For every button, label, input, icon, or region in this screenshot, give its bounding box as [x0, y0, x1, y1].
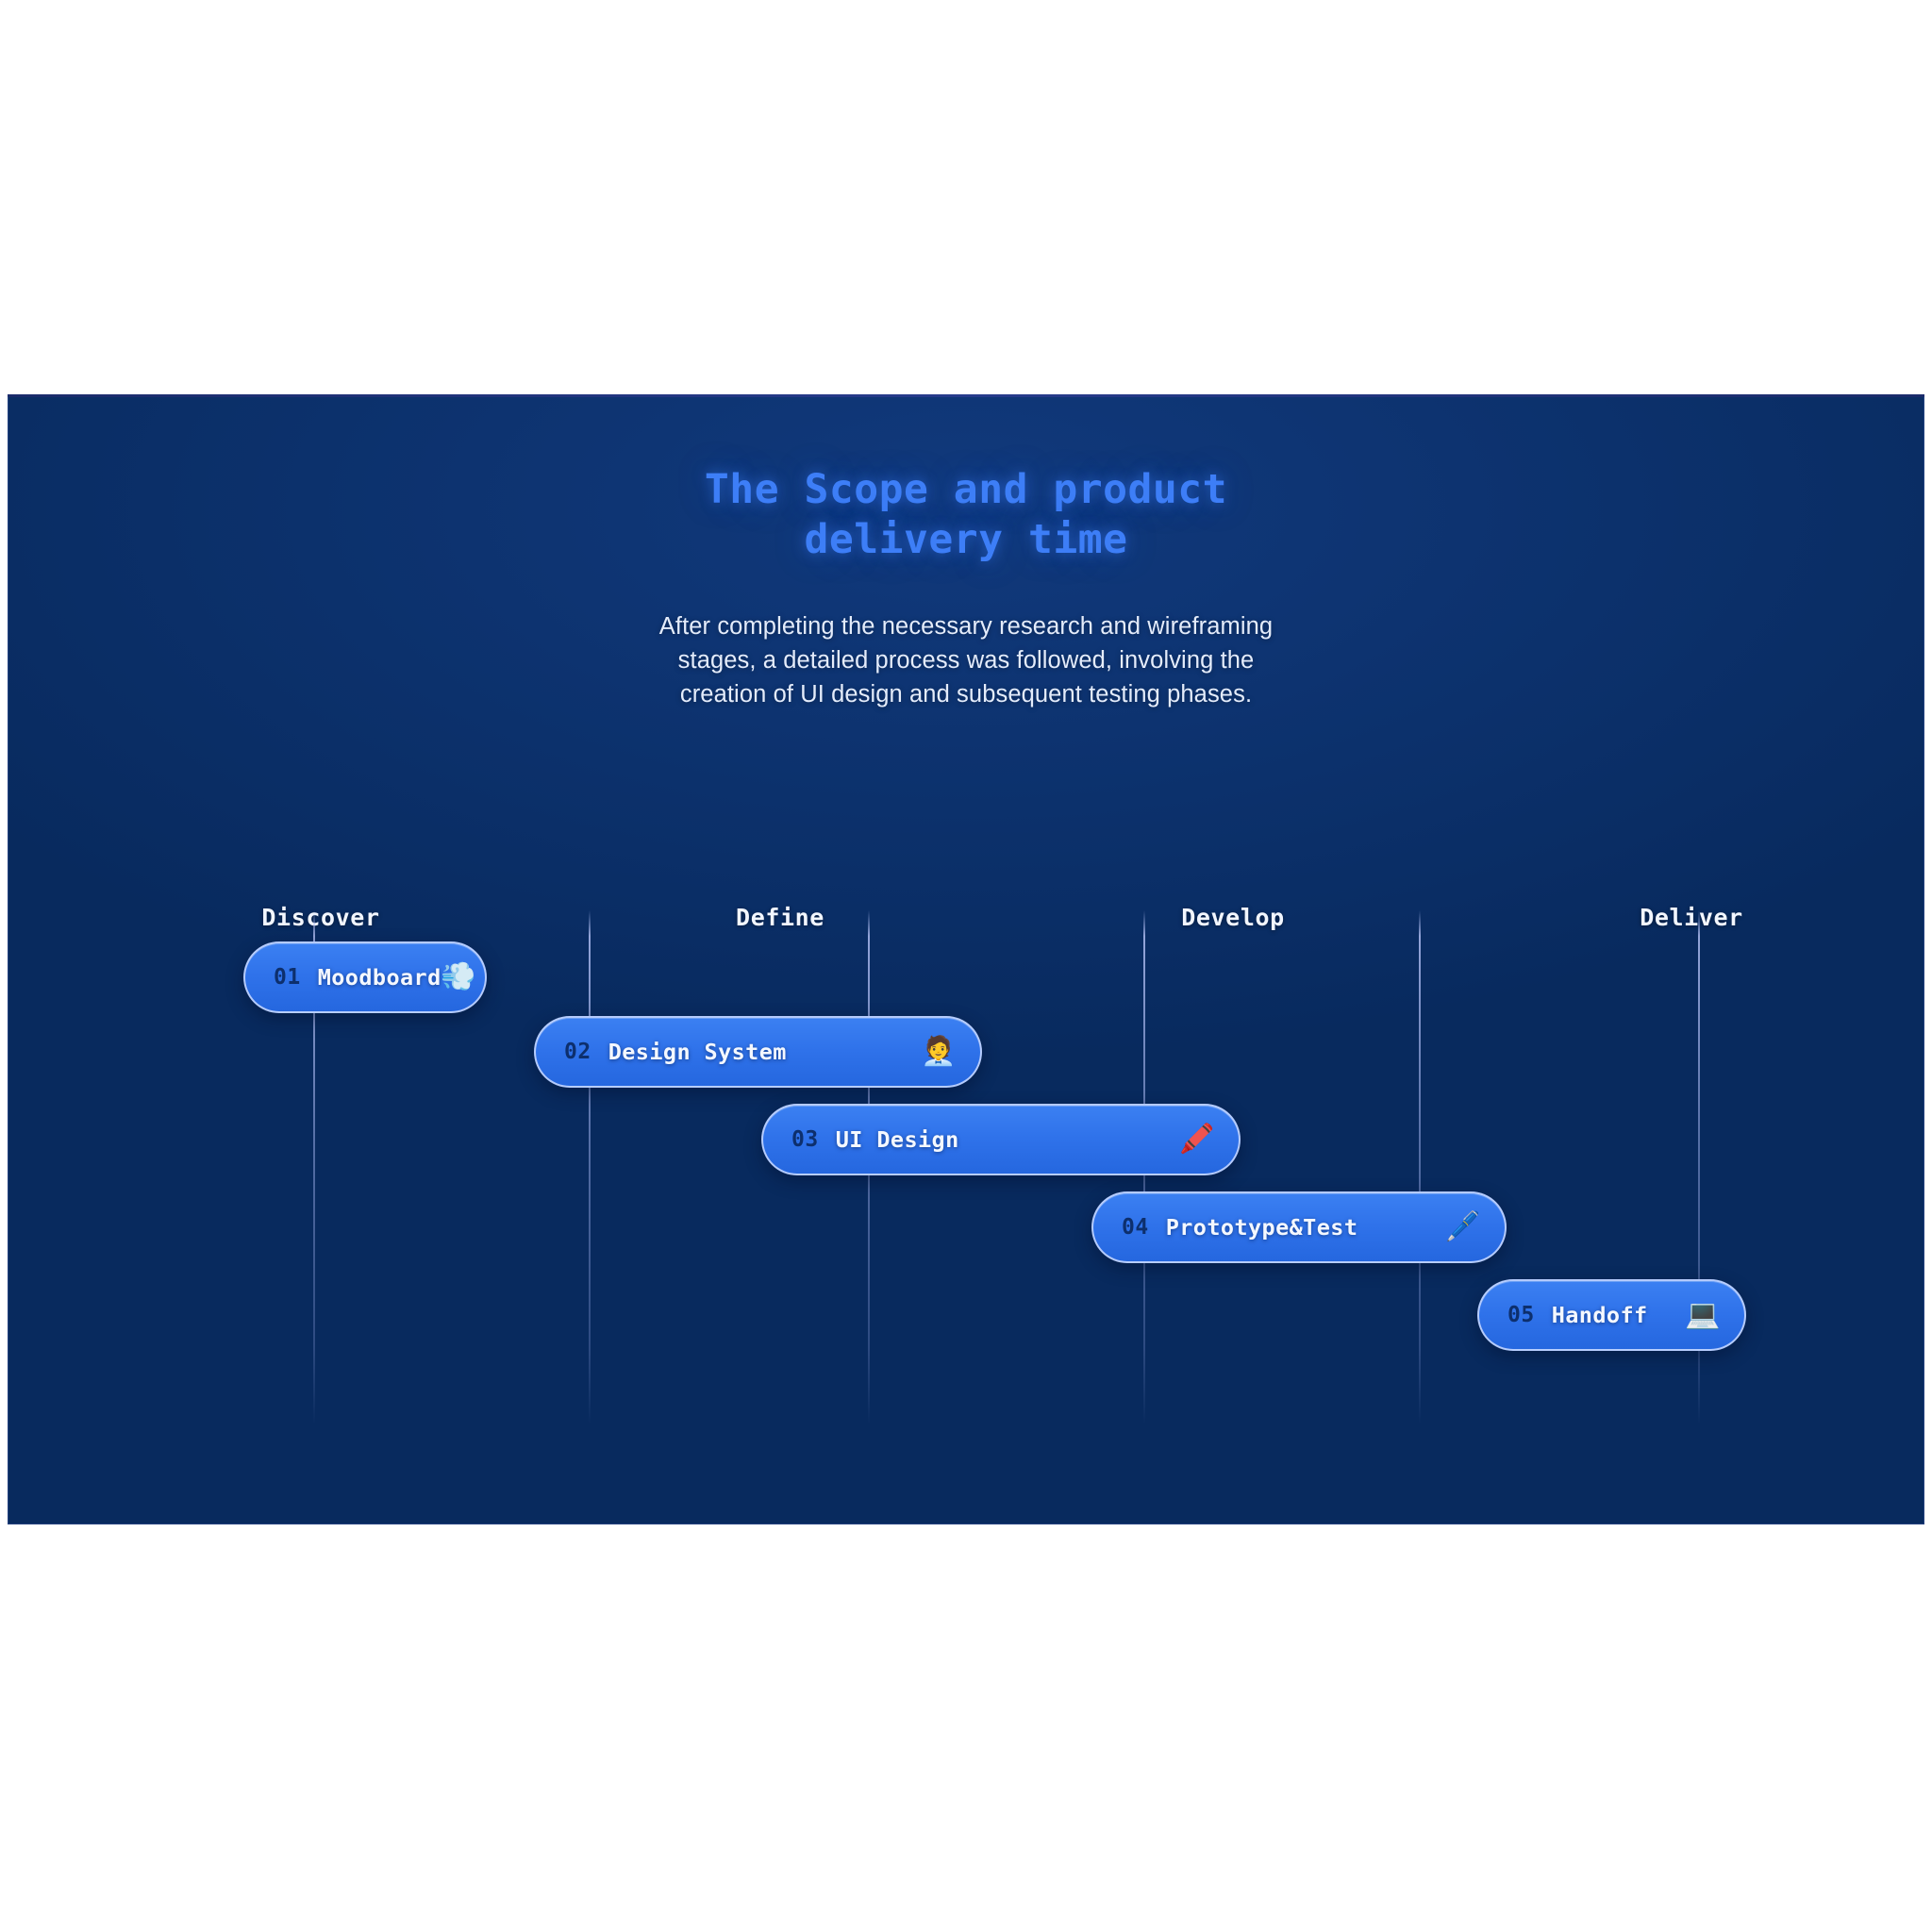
green-pen-icon: 🖊️ — [1446, 1210, 1480, 1244]
gantt-bar-label: Prototype&Test — [1166, 1214, 1358, 1241]
phase-label-deliver: Deliver — [1640, 904, 1743, 931]
gantt-bar-prototype-test[interactable]: 04 Prototype&Test 🖊️ — [1091, 1191, 1507, 1263]
gantt-bar-number: 03 — [791, 1127, 819, 1152]
gantt-bar-number: 05 — [1507, 1303, 1535, 1327]
slide-canvas: The Scope and product delivery time Afte… — [0, 0, 1932, 1932]
gantt-bar-moodboard[interactable]: 01 Moodboard 💨 — [243, 941, 487, 1013]
gantt-bar-label: Handoff — [1552, 1302, 1648, 1328]
presentation-slide-panel: The Scope and product delivery time Afte… — [8, 394, 1924, 1524]
gantt-bar-number: 01 — [274, 965, 301, 990]
red-crayon-icon: 🖍️ — [1180, 1123, 1214, 1157]
gantt-timeline: Discover Define Develop Deliver 01 Moodb… — [8, 394, 1924, 1524]
thought-cloud-icon: 💨 — [441, 960, 475, 994]
gantt-bar-design-system[interactable]: 02 Design System 🧑‍💼 — [534, 1016, 982, 1088]
gantt-bar-handoff[interactable]: 05 Handoff 💻 — [1477, 1279, 1746, 1351]
phase-label-define: Define — [736, 904, 824, 931]
person-worker-icon: 🧑‍💼 — [922, 1035, 956, 1069]
gridline-5 — [1419, 910, 1421, 1424]
phase-label-discover: Discover — [261, 904, 379, 931]
laptop-icon: 💻 — [1686, 1298, 1720, 1332]
gantt-bar-ui-design[interactable]: 03 UI Design 🖍️ — [761, 1104, 1241, 1175]
gridline-2 — [589, 910, 591, 1424]
gantt-bar-label: Design System — [608, 1039, 787, 1065]
gantt-bar-number: 04 — [1122, 1215, 1149, 1240]
phase-label-develop: Develop — [1181, 904, 1285, 931]
gantt-bar-label: Moodboard — [318, 964, 441, 991]
gantt-bar-label: UI Design — [836, 1126, 959, 1153]
gantt-bar-number: 02 — [564, 1040, 591, 1064]
